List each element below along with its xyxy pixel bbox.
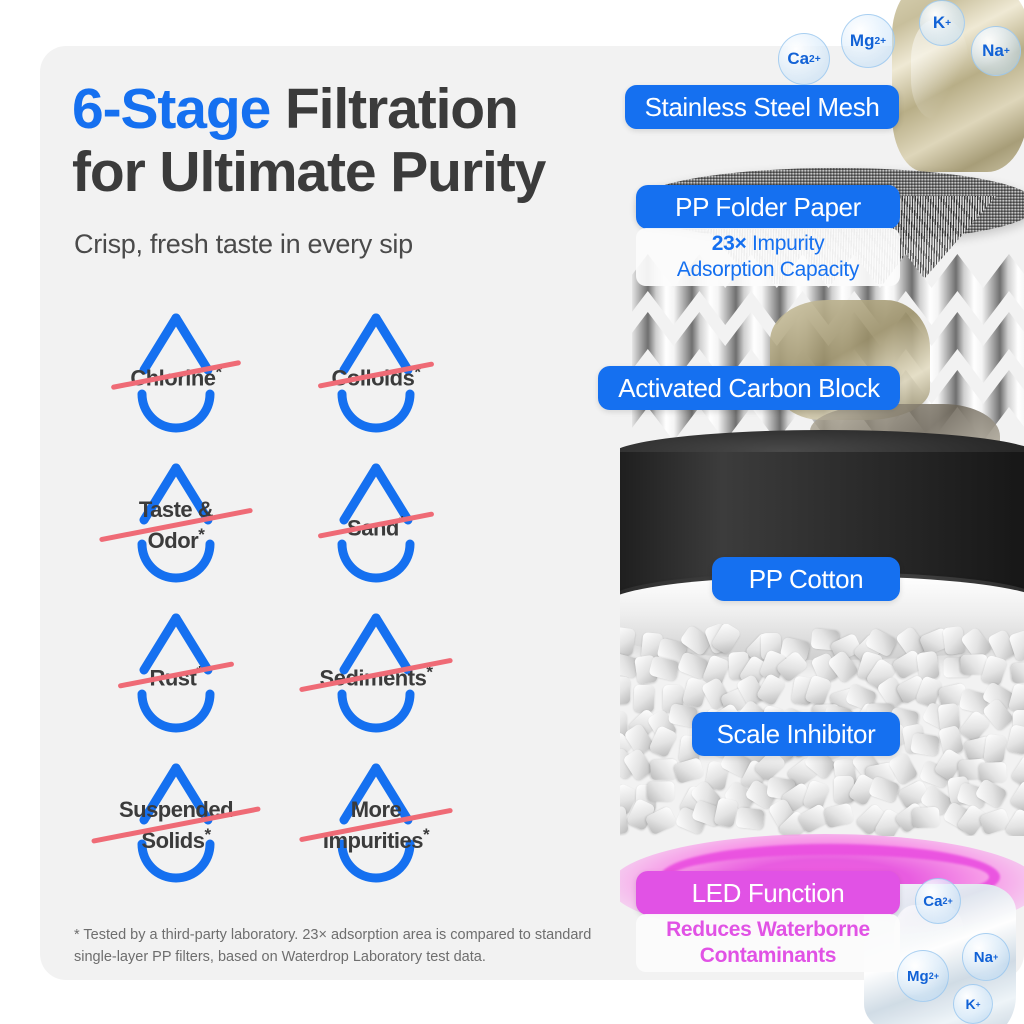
callout-pp-folder-paper[interactable]: PP Folder Paper	[636, 185, 900, 229]
callout-activated-carbon-block[interactable]: Activated Carbon Block	[598, 366, 900, 410]
headline-line2: for Ultimate Purity	[72, 140, 545, 204]
footnote-disclaimer: * Tested by a third-party laboratory. 23…	[74, 924, 604, 968]
pellet	[735, 807, 764, 830]
ion-bubble-ca-bottom: Ca2+	[915, 878, 961, 924]
pellet	[983, 734, 1006, 763]
ion-bubble-mg-bottom: Mg2+	[897, 950, 949, 1002]
adsorption-line1: 23× Impurity	[712, 231, 825, 257]
pellet	[620, 677, 630, 704]
pellet	[633, 685, 654, 712]
ion-charge: +	[945, 18, 951, 29]
adsorption-multiplier: 23×	[712, 232, 747, 255]
led-line1: Reduces Waterborne	[666, 917, 870, 943]
footnote-marker: *	[198, 525, 204, 544]
ion-bubble-mg-top: Mg2+	[841, 14, 895, 68]
callout-scale-inhibitor[interactable]: Scale Inhibitor	[692, 712, 900, 756]
contaminant-item: Colloids*	[276, 300, 476, 450]
adsorption-rest: Impurity	[746, 232, 824, 255]
ion-bubble-ca-top: Ca2+	[778, 33, 830, 85]
contaminant-item: Rust*	[76, 600, 276, 750]
pellet	[713, 798, 738, 829]
contaminant-grid: Chlorine* Colloids* Taste &Odor* Sand* R…	[76, 300, 576, 900]
adsorption-line2: Adsorption Capacity	[677, 257, 859, 283]
pellet	[911, 733, 941, 757]
callout-stainless-steel-mesh[interactable]: Stainless Steel Mesh	[625, 85, 899, 129]
callout-pp-cotton[interactable]: PP Cotton	[712, 557, 900, 601]
headline-accent: 6-Stage	[72, 77, 270, 141]
footnote-marker: *	[423, 825, 429, 844]
pellet	[620, 627, 636, 656]
ion-charge: 2+	[942, 896, 952, 906]
pellet	[912, 807, 940, 829]
ion-charge: 2+	[929, 971, 939, 981]
contaminant-item: Chlorine*	[76, 300, 276, 450]
contaminant-item: SuspendedSolids*	[76, 750, 276, 900]
subpanel-adsorption-capacity: 23× Impurity Adsorption Capacity	[636, 228, 900, 286]
pellet	[823, 802, 854, 828]
pellet	[1010, 662, 1024, 684]
pellet	[674, 757, 706, 784]
ion-bubble-na-bottom: Na+	[962, 933, 1010, 981]
contaminant-item: Taste &Odor*	[76, 450, 276, 600]
pellet	[1008, 630, 1024, 662]
ion-bubble-k-top: K+	[919, 0, 965, 46]
pellet	[868, 776, 900, 804]
pellet	[1006, 724, 1024, 755]
callout-led-function[interactable]: LED Function	[636, 871, 900, 915]
ion-bubble-k-bottom: K+	[953, 984, 993, 1024]
contaminant-item: MoreImpurities*	[276, 750, 476, 900]
page-subtitle: Crisp, fresh taste in every sip	[74, 226, 594, 262]
subpanel-led-description: Reduces Waterborne Contaminants	[636, 914, 900, 972]
pellet	[648, 781, 675, 801]
contaminant-item: Sand*	[276, 450, 476, 600]
footnote-marker: *	[204, 825, 210, 844]
headline-rest: Filtration	[270, 77, 518, 141]
infographic-root: 6-Stage Filtration for Ultimate Purity C…	[0, 0, 1024, 1024]
ion-charge: +	[976, 999, 981, 1009]
ion-charge: 2+	[874, 36, 886, 47]
pellet	[1010, 780, 1024, 814]
page-title: 6-Stage Filtration for Ultimate Purity	[72, 78, 632, 204]
led-line2: Contaminants	[700, 943, 836, 969]
ion-charge: 2+	[809, 54, 821, 65]
ion-charge: +	[1004, 46, 1010, 57]
ion-bubble-na-top: Na+	[971, 26, 1021, 76]
ion-charge: +	[993, 952, 998, 962]
contaminant-item: Sediments*	[276, 600, 476, 750]
